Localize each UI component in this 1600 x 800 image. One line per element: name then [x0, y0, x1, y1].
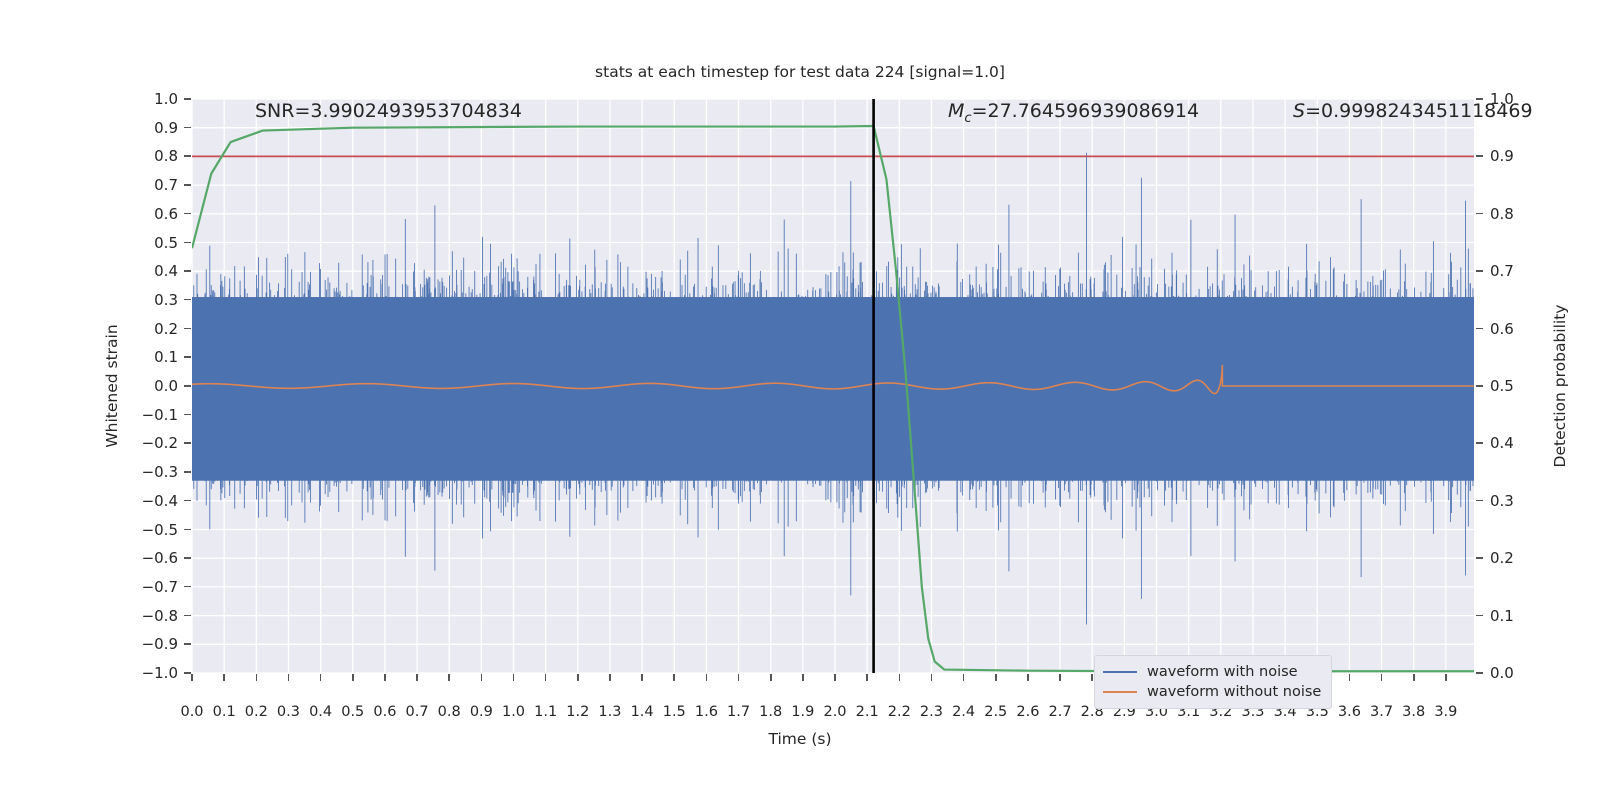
annotation-mc-subscript: c	[964, 111, 971, 126]
y-tickmark-left-2	[184, 155, 191, 157]
x-tickmark-22	[899, 674, 901, 681]
annotation-score: S=0.9998243451118469	[1293, 100, 1533, 122]
data-layer	[192, 99, 1474, 673]
y-tickmark-left-17	[184, 586, 191, 588]
y-tickmark-left-6	[184, 270, 191, 272]
y-tickmark-left-3	[184, 184, 191, 186]
y-tick-right-3: 0.7	[1490, 262, 1550, 280]
x-tickmark-9	[481, 674, 483, 681]
y-tickmark-left-5	[184, 242, 191, 244]
annotation-mc-equals: =	[972, 100, 988, 122]
y-tickmark-right-10	[1476, 672, 1483, 674]
y-tickmark-right-7	[1476, 500, 1483, 502]
y-tick-left-11: −0.1	[118, 406, 178, 424]
annotation-mc-symbol: M	[948, 100, 964, 122]
x-tickmark-7	[416, 674, 418, 681]
x-tickmark-4	[320, 674, 322, 681]
x-tickmark-2	[256, 674, 258, 681]
y-tickmark-right-5	[1476, 385, 1483, 387]
y-tick-left-4: 0.6	[118, 205, 178, 223]
y-tick-right-1: 0.9	[1490, 147, 1550, 165]
y-tick-right-9: 0.1	[1490, 607, 1550, 625]
y-tick-left-3: 0.7	[118, 176, 178, 194]
x-tickmark-23	[931, 674, 933, 681]
y-tick-right-7: 0.3	[1490, 492, 1550, 510]
legend-swatch-icon-0	[1103, 671, 1137, 673]
x-tickmark-27	[1059, 674, 1061, 681]
x-tickmark-8	[448, 674, 450, 681]
y-tick-left-17: −0.7	[118, 578, 178, 596]
x-tickmark-24	[963, 674, 965, 681]
x-tickmark-1	[223, 674, 225, 681]
x-tickmark-18	[770, 674, 772, 681]
x-tickmark-36	[1349, 674, 1351, 681]
y-tickmark-left-7	[184, 299, 191, 301]
x-tickmark-39	[1445, 674, 1447, 681]
y-tickmark-left-10	[184, 385, 191, 387]
plot-area	[192, 99, 1474, 673]
x-tickmark-28	[1091, 674, 1093, 681]
chart-title: stats at each timestep for test data 224…	[0, 63, 1600, 81]
y-tickmark-left-1	[184, 127, 191, 129]
x-tickmark-14	[641, 674, 643, 681]
y-tick-left-2: 0.8	[118, 147, 178, 165]
x-tickmark-11	[545, 674, 547, 681]
y-tickmark-left-12	[184, 442, 191, 444]
x-tickmark-15	[673, 674, 675, 681]
annotation-s-symbol: S	[1293, 100, 1305, 122]
x-tickmark-6	[384, 674, 386, 681]
y-tick-left-7: 0.3	[118, 291, 178, 309]
y-tick-left-10: 0.0	[118, 377, 178, 395]
y-tick-left-13: −0.3	[118, 463, 178, 481]
annotation-snr: SNR=3.9902493953704834	[255, 100, 522, 122]
annotation-snr-value: 3.9902493953704834	[310, 100, 522, 122]
x-tickmark-13	[609, 674, 611, 681]
y-tick-left-8: 0.2	[118, 320, 178, 338]
y-tickmark-right-3	[1476, 270, 1483, 272]
y-tick-left-16: −0.6	[118, 549, 178, 567]
x-tickmark-19	[802, 674, 804, 681]
y-tick-left-6: 0.4	[118, 262, 178, 280]
y-tickmark-left-15	[184, 529, 191, 531]
y-tickmark-left-9	[184, 356, 191, 358]
x-tickmark-26	[1027, 674, 1029, 681]
y-axis-label-right: Detection probability	[1551, 305, 1569, 468]
y-tick-left-1: 0.9	[118, 119, 178, 137]
y-tickmark-right-2	[1476, 213, 1483, 215]
y-tickmark-left-13	[184, 471, 191, 473]
legend[interactable]: waveform with noisewaveform without nois…	[1094, 655, 1332, 709]
legend-item-1[interactable]: waveform without noise	[1103, 682, 1321, 702]
y-tick-right-10: 0.0	[1490, 664, 1550, 682]
y-tick-left-9: 0.1	[118, 348, 178, 366]
y-tick-left-0: 1.0	[118, 90, 178, 108]
chart-canvas: stats at each timestep for test data 224…	[0, 0, 1600, 800]
y-tickmark-right-9	[1476, 615, 1483, 617]
annotation-s-value: 0.9998243451118469	[1321, 100, 1533, 122]
y-tickmark-left-4	[184, 213, 191, 215]
annotation-s-equals: =	[1305, 100, 1321, 122]
y-tick-left-18: −0.8	[118, 607, 178, 625]
y-tickmark-left-19	[184, 643, 191, 645]
x-tickmark-16	[706, 674, 708, 681]
legend-label-1: waveform without noise	[1147, 684, 1321, 700]
y-tick-right-4: 0.6	[1490, 320, 1550, 338]
annotation-mc-value: 27.764596939086914	[987, 100, 1199, 122]
y-tickmark-right-1	[1476, 155, 1483, 157]
x-tickmark-20	[834, 674, 836, 681]
y-tickmark-left-11	[184, 414, 191, 416]
x-tickmark-5	[352, 674, 354, 681]
y-tickmark-left-20	[184, 672, 191, 674]
x-tickmark-21	[866, 674, 868, 681]
y-tick-right-5: 0.5	[1490, 377, 1550, 395]
x-tickmark-12	[577, 674, 579, 681]
x-tickmark-38	[1413, 674, 1415, 681]
legend-label-0: waveform with noise	[1147, 664, 1298, 680]
y-tick-left-14: −0.4	[118, 492, 178, 510]
x-tickmark-37	[1381, 674, 1383, 681]
y-tick-right-6: 0.4	[1490, 434, 1550, 452]
y-tick-left-15: −0.5	[118, 521, 178, 539]
x-tick-39: 3.9	[1426, 704, 1466, 720]
y-tickmark-right-8	[1476, 557, 1483, 559]
y-tick-right-2: 0.8	[1490, 205, 1550, 223]
annotation-chirp-mass: Mc=27.764596939086914	[948, 100, 1199, 126]
legend-swatch-icon-1	[1103, 691, 1137, 693]
y-tickmark-left-18	[184, 615, 191, 617]
x-tickmark-10	[513, 674, 515, 681]
y-tickmark-left-14	[184, 500, 191, 502]
y-tickmark-left-8	[184, 328, 191, 330]
x-tickmark-0	[191, 674, 193, 681]
legend-item-0[interactable]: waveform with noise	[1103, 662, 1321, 682]
y-tick-left-19: −0.9	[118, 635, 178, 653]
y-tickmark-left-0	[184, 98, 191, 100]
y-tick-left-12: −0.2	[118, 434, 178, 452]
x-tickmark-3	[288, 674, 290, 681]
x-tickmark-25	[995, 674, 997, 681]
x-tickmark-17	[738, 674, 740, 681]
x-axis-label: Time (s)	[0, 730, 1600, 748]
y-tickmark-right-6	[1476, 442, 1483, 444]
y-tick-left-5: 0.5	[118, 234, 178, 252]
y-tick-left-20: −1.0	[118, 664, 178, 682]
y-tickmark-left-16	[184, 557, 191, 559]
y-tickmark-right-4	[1476, 328, 1483, 330]
y-tick-right-8: 0.2	[1490, 549, 1550, 567]
annotation-snr-label: SNR=	[255, 100, 310, 122]
